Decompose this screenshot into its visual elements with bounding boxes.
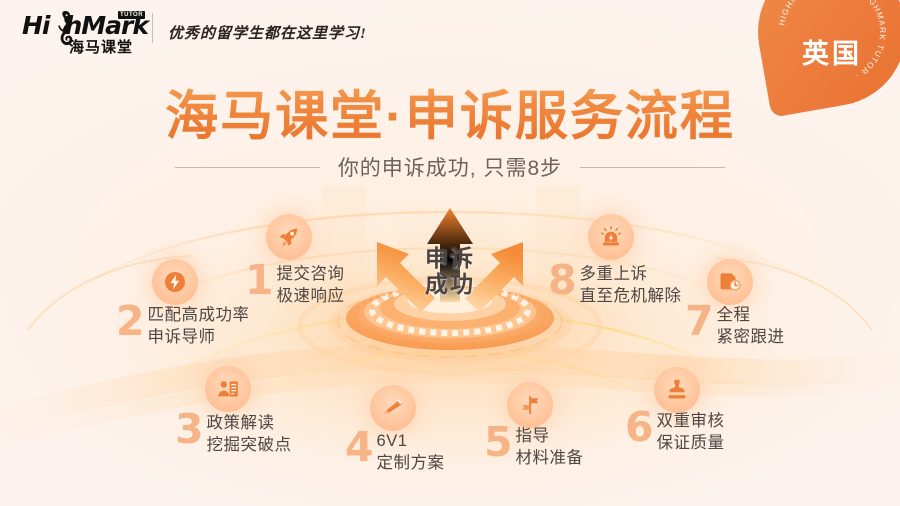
step-3-number: 3 xyxy=(175,411,204,447)
step-5-label: 5 指导 材料准备 xyxy=(484,424,584,469)
step-5-line-2: 材料准备 xyxy=(516,447,584,469)
center-line-1: 申诉 xyxy=(0,246,900,272)
center-success-label: 申诉 成功 xyxy=(0,246,900,298)
signpost-icon xyxy=(507,382,553,428)
poster-canvas: HihMark TUTOR 海马课堂 优秀的留学生都在这里学习! HIGHMAR xyxy=(0,0,900,506)
logo-text-part1: Hi xyxy=(22,11,50,40)
page-header: HihMark TUTOR 海马课堂 优秀的留学生都在这里学习! HIGHMAR xyxy=(0,0,900,66)
step-7-number: 7 xyxy=(685,303,714,339)
step-2-line-2: 申诉导师 xyxy=(148,326,250,348)
step-7-text: 全程 紧密跟进 xyxy=(717,303,785,348)
step-3-line-1: 政策解读 xyxy=(207,412,292,434)
page-subtitle: 你的申诉成功, 只需8步 xyxy=(338,152,562,182)
step-4-line-2: 定制方案 xyxy=(377,452,445,474)
step-5-line-1: 指导 xyxy=(516,425,584,447)
step-4-line-1: 6V1 xyxy=(377,430,445,452)
step-6-number: 6 xyxy=(625,409,654,445)
step-6-label: 6 双重审核 保证质量 xyxy=(625,409,725,454)
step-6-line-2: 保证质量 xyxy=(657,432,725,454)
subtitle-row: 你的申诉成功, 只需8步 xyxy=(0,152,900,182)
step-2-number: 2 xyxy=(116,303,145,339)
step-3-label: 3 政策解读 挖掘突破点 xyxy=(175,411,292,456)
step-4-number: 4 xyxy=(345,429,374,465)
badge-country-label: 英国 xyxy=(758,32,900,71)
step-2-label: 2 匹配高成功率 申诉导师 xyxy=(116,303,250,348)
step-3-text: 政策解读 挖掘突破点 xyxy=(207,411,292,456)
step-2-line-1: 匹配高成功率 xyxy=(148,304,250,326)
logo-chinese-name: 海马课堂 xyxy=(69,36,133,57)
step-4-text: 6V1 定制方案 xyxy=(377,429,445,474)
step-3-line-2: 挖掘突破点 xyxy=(207,434,292,456)
logo-tm-label: TUTOR xyxy=(118,11,145,19)
step-5-number: 5 xyxy=(484,424,513,460)
stamp-icon xyxy=(654,367,700,413)
brand-tagline: 优秀的留学生都在这里学习! xyxy=(168,22,367,43)
step-4-label: 4 6V1 定制方案 xyxy=(345,429,445,474)
step-6-line-1: 双重审核 xyxy=(657,410,725,432)
logo-mark: HihMark TUTOR 海马课堂 xyxy=(22,9,150,57)
step-7-line-1: 全程 xyxy=(717,304,785,326)
subtitle-rule-left xyxy=(175,167,320,168)
header-divider xyxy=(152,13,153,43)
pencil-icon xyxy=(370,385,416,431)
center-line-2: 成功 xyxy=(0,272,900,298)
step-5-text: 指导 材料准备 xyxy=(516,424,584,469)
step-7-label: 7 全程 紧密跟进 xyxy=(685,303,785,348)
subtitle-rule-right xyxy=(580,167,725,168)
page-title: 海马课堂·申诉服务流程 xyxy=(0,74,900,150)
step-7-line-2: 紧密跟进 xyxy=(717,326,785,348)
step-6-text: 双重审核 保证质量 xyxy=(657,409,725,454)
policy-person-icon xyxy=(205,366,251,412)
brand-logo[interactable]: HihMark TUTOR 海马课堂 xyxy=(22,9,150,57)
step-2-text: 匹配高成功率 申诉导师 xyxy=(148,303,250,348)
